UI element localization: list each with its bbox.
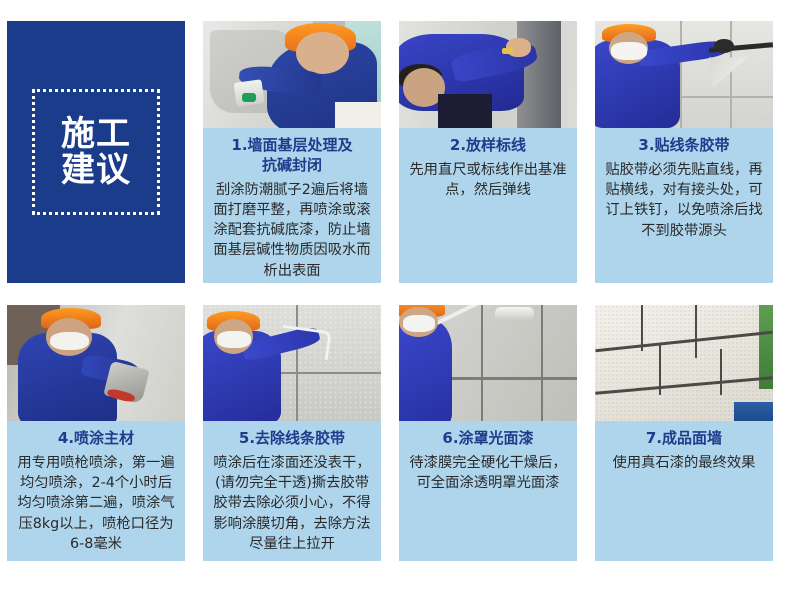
scene-workers-marking-column [399,21,577,128]
step-5-photo [203,305,381,421]
step-7-photo [595,305,773,421]
step-2-photo [399,21,577,128]
step-3-body: 3.贴线条胶带 贴胶带必须先贴直线，再贴横线，对有接头处，可订上铁钉，以免喷涂后… [595,128,773,283]
step-3-title: 3.贴线条胶带 [599,136,769,156]
step-5-title: 5.去除线条胶带 [207,429,377,449]
hero-title-line-2: 建议 [61,152,131,188]
scene-finished-wall [595,305,773,421]
step-1-photo [203,21,381,128]
step-6-photo [399,305,577,421]
step-2-body: 2.放样标线 先用直尺或标线作出基准点，然后弹线 [399,128,577,283]
step-4-photo [7,305,185,421]
scene-worker-spraying [7,305,185,421]
step-3-text: 贴胶带必须先贴直线，再贴横线，对有接头处，可订上铁钉，以免喷涂后找不到胶带源头 [599,160,769,241]
step-3-photo [595,21,773,128]
step-6-text: 待漆膜完全硬化干燥后，可全面涂透明罩光面漆 [403,453,573,494]
steps-grid: 施工 建议 1.墙面基层处理及 抗碱封闭 刮涂防潮腻子2遍后将墙面打磨平整，再喷… [7,21,783,561]
step-7-text: 使用真石漆的最终效果 [599,453,769,473]
step-6-title: 6.涂罩光面漆 [403,429,573,449]
step-7-body: 7.成品面墙 使用真石漆的最终效果 [595,421,773,561]
step-card-5[interactable]: 5.去除线条胶带 喷涂后在漆面还没表干，(请勿完全干透)撕去胶带胶带去除必须小心… [203,305,381,561]
step-4-body: 4.喷涂主材 用专用喷枪喷涂，第一遍均匀喷涂，2-4个小时后均匀喷涂第二遍，喷涂… [7,421,185,561]
step-5-body: 5.去除线条胶带 喷涂后在漆面还没表干，(请勿完全干透)撕去胶带胶带去除必须小心… [203,421,381,561]
step-1-title: 1.墙面基层处理及 抗碱封闭 [207,136,377,176]
construction-steps-infographic: 施工 建议 1.墙面基层处理及 抗碱封闭 刮涂防潮腻子2遍后将墙面打磨平整，再喷… [0,0,790,595]
step-1-body: 1.墙面基层处理及 抗碱封闭 刮涂防潮腻子2遍后将墙面打磨平整，再喷涂或滚涂配套… [203,128,381,283]
scene-worker-removing-tape [203,305,381,421]
scene-worker-skim-coating [203,21,381,128]
step-2-title: 2.放样标线 [403,136,573,156]
step-4-title: 4.喷涂主材 [11,429,181,449]
step-card-2[interactable]: 2.放样标线 先用直尺或标线作出基准点，然后弹线 [399,21,577,283]
step-2-text: 先用直尺或标线作出基准点，然后弹线 [403,160,573,201]
step-7-title: 7.成品面墙 [599,429,769,449]
hero-title-line-1: 施工 [61,116,131,152]
step-4-text: 用专用喷枪喷涂，第一遍均匀喷涂，2-4个小时后均匀喷涂第二遍，喷涂气压8kg以上… [11,453,181,554]
step-card-6[interactable]: 6.涂罩光面漆 待漆膜完全硬化干燥后，可全面涂透明罩光面漆 [399,305,577,561]
step-card-3[interactable]: 3.贴线条胶带 贴胶带必须先贴直线，再贴横线，对有接头处，可订上铁钉，以免喷涂后… [595,21,773,283]
step-5-text: 喷涂后在漆面还没表干，(请勿完全干透)撕去胶带胶带去除必须小心，不得影响涂膜切角… [207,453,377,554]
step-card-7[interactable]: 7.成品面墙 使用真石漆的最终效果 [595,305,773,561]
step-card-4[interactable]: 4.喷涂主材 用专用喷枪喷涂，第一遍均匀喷涂，2-4个小时后均匀喷涂第二遍，喷涂… [7,305,185,561]
hero-title-card: 施工 建议 [7,21,185,283]
scene-worker-rolling-topcoat [399,305,577,421]
hero-dotted-frame: 施工 建议 [32,89,160,215]
step-6-body: 6.涂罩光面漆 待漆膜完全硬化干燥后，可全面涂透明罩光面漆 [399,421,577,561]
step-card-1[interactable]: 1.墙面基层处理及 抗碱封闭 刮涂防潮腻子2遍后将墙面打磨平整，再喷涂或滚涂配套… [203,21,381,283]
scene-worker-applying-tape [595,21,773,128]
step-1-text: 刮涂防潮腻子2遍后将墙面打磨平整，再喷涂或滚涂配套抗碱底漆，防止墙面基层碱性物质… [207,180,377,281]
